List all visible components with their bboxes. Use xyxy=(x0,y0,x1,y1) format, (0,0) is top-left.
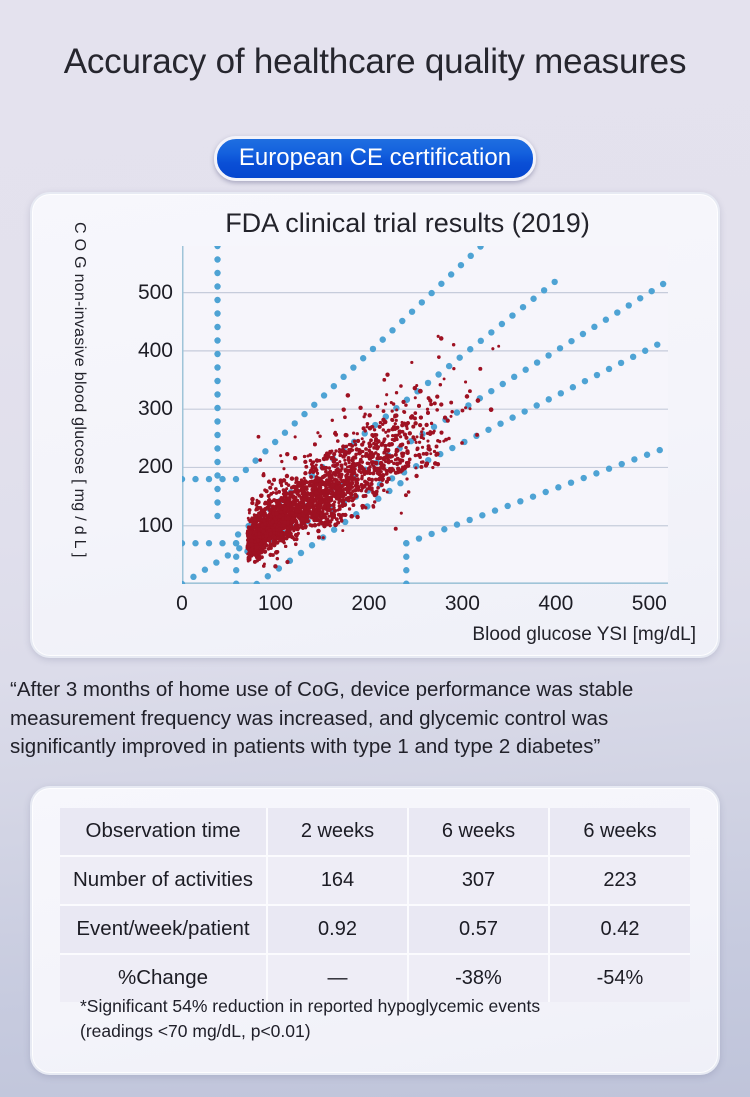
x-axis-tick-label: 500 xyxy=(632,592,667,616)
x-axis-tick-label: 0 xyxy=(176,592,188,616)
y-axis-tick-label: 300 xyxy=(138,397,173,421)
table-cell: 2 weeks xyxy=(267,808,408,856)
table-row-label: Number of activities xyxy=(60,856,267,905)
quote-line-2: measurement frequency was increased, and… xyxy=(10,705,742,734)
table-row: Event/week/patient0.920.570.42 xyxy=(60,905,690,954)
x-axis-tick-label: 100 xyxy=(258,592,293,616)
results-table-card: Observation time2 weeks6 weeks6 weeksNum… xyxy=(30,786,720,1075)
table-cell: 0.42 xyxy=(549,905,690,954)
x-axis-tick-label: 200 xyxy=(351,592,386,616)
footnote-line-2: (readings <70 mg/dL, p<0.01) xyxy=(80,1019,540,1044)
quote-line-3: significantly improved in patients with … xyxy=(10,733,742,762)
table-cell: 6 weeks xyxy=(408,808,549,856)
table-cell: 223 xyxy=(549,856,690,905)
results-table: Observation time2 weeks6 weeks6 weeksNum… xyxy=(60,808,690,1002)
y-axis-tick-label: 400 xyxy=(138,339,173,363)
table-row-label: Event/week/patient xyxy=(60,905,267,954)
table-footnote: *Significant 54% reduction in reported h… xyxy=(80,994,540,1044)
chart-x-axis-label: Blood glucose YSI [mg/dL] xyxy=(472,624,696,646)
table-cell: 307 xyxy=(408,856,549,905)
y-axis-tick-label: 100 xyxy=(138,514,173,538)
clarke-error-grid-svg xyxy=(182,246,668,584)
page-title: Accuracy of healthcare quality measures xyxy=(0,42,750,82)
table-cell: 0.92 xyxy=(267,905,408,954)
table-cell: 6 weeks xyxy=(549,808,690,856)
table-cell: -54% xyxy=(549,954,690,1002)
y-axis-tick-label: 200 xyxy=(138,455,173,479)
certification-badge-wrapper: European CE certification xyxy=(0,136,750,181)
scatter-plot-area: 1002003004005000100200300400500 xyxy=(182,246,668,584)
quote-block: “After 3 months of home use of CoG, devi… xyxy=(10,676,742,762)
x-axis-tick-label: 400 xyxy=(538,592,573,616)
european-ce-certification-badge[interactable]: European CE certification xyxy=(214,136,536,181)
table-row: Observation time2 weeks6 weeks6 weeks xyxy=(60,808,690,856)
table-row: Number of activities164307223 xyxy=(60,856,690,905)
y-axis-tick-label: 500 xyxy=(138,281,173,305)
footnote-line-1: *Significant 54% reduction in reported h… xyxy=(80,994,540,1019)
table-cell: 164 xyxy=(267,856,408,905)
chart-card: FDA clinical trial results (2019) C O G … xyxy=(30,192,720,658)
x-axis-tick-label: 300 xyxy=(445,592,480,616)
table-row-label: Observation time xyxy=(60,808,267,856)
quote-line-1: “After 3 months of home use of CoG, devi… xyxy=(10,676,742,705)
table-cell: 0.57 xyxy=(408,905,549,954)
chart-title: FDA clinical trial results (2019) xyxy=(127,208,688,239)
chart-y-axis-label: C O G non-invasive blood glucose [ mg / … xyxy=(64,222,94,622)
scatter-points xyxy=(246,335,501,569)
